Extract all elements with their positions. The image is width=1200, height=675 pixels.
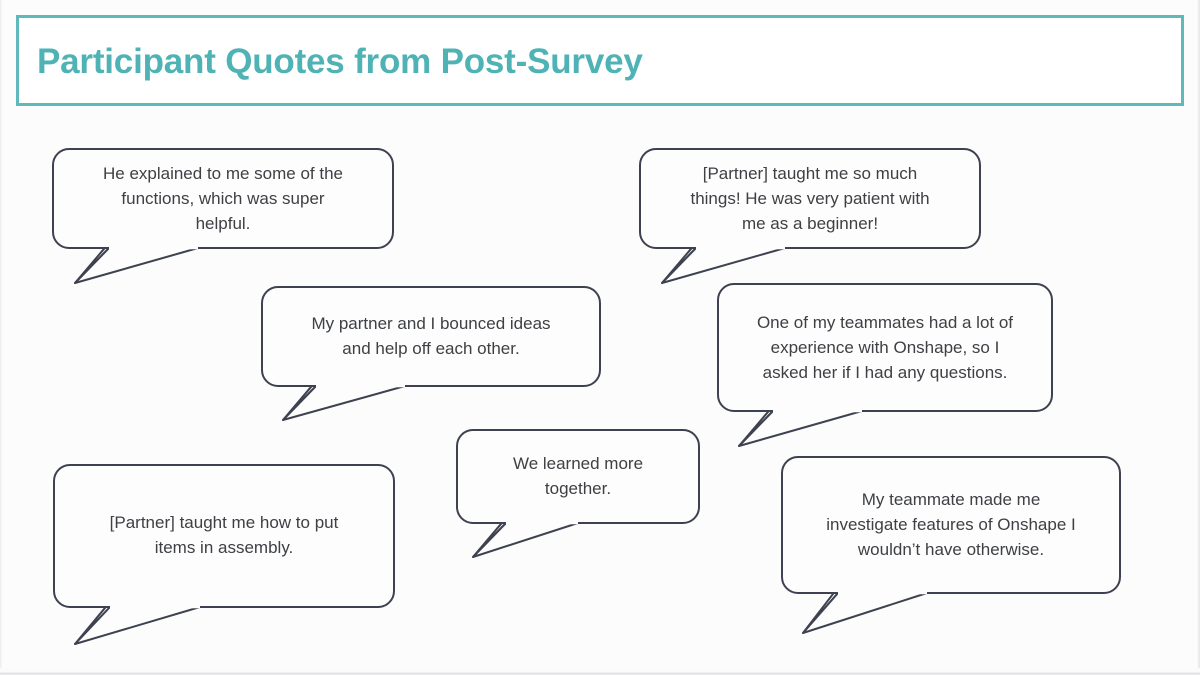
speech-bubble-quote-3[interactable]: My partner and I bounced ideas and help … xyxy=(261,286,601,426)
speech-bubble-text: He explained to me some of the functions… xyxy=(52,148,394,248)
speech-bubble-text: [Partner] taught me how to put items in … xyxy=(53,464,395,606)
speech-bubble-text: [Partner] taught me so much things! He w… xyxy=(639,148,981,248)
slide-bottom-edge xyxy=(0,668,1200,675)
speech-bubble-text: My teammate made me investigate features… xyxy=(781,456,1121,592)
speech-bubble-quote-2[interactable]: [Partner] taught me so much things! He w… xyxy=(639,148,981,288)
page-title: Participant Quotes from Post-Survey xyxy=(37,42,643,82)
speech-bubble-text: We learned more together. xyxy=(456,429,700,523)
speech-bubble-quote-7[interactable]: My teammate made me investigate features… xyxy=(781,456,1121,646)
speech-bubble-quote-4[interactable]: One of my teammates had a lot of experie… xyxy=(717,283,1053,463)
speech-bubble-quote-6[interactable]: [Partner] taught me how to put items in … xyxy=(53,464,395,649)
speech-bubble-quote-5[interactable]: We learned more together. xyxy=(456,429,700,564)
slide-canvas: Participant Quotes from Post-Survey He e… xyxy=(0,0,1200,675)
title-banner: Participant Quotes from Post-Survey xyxy=(16,15,1184,106)
speech-bubble-quote-1[interactable]: He explained to me some of the functions… xyxy=(52,148,394,288)
speech-bubble-text: My partner and I bounced ideas and help … xyxy=(261,286,601,386)
speech-bubble-text: One of my teammates had a lot of experie… xyxy=(717,283,1053,411)
slide-left-edge xyxy=(0,0,2,675)
